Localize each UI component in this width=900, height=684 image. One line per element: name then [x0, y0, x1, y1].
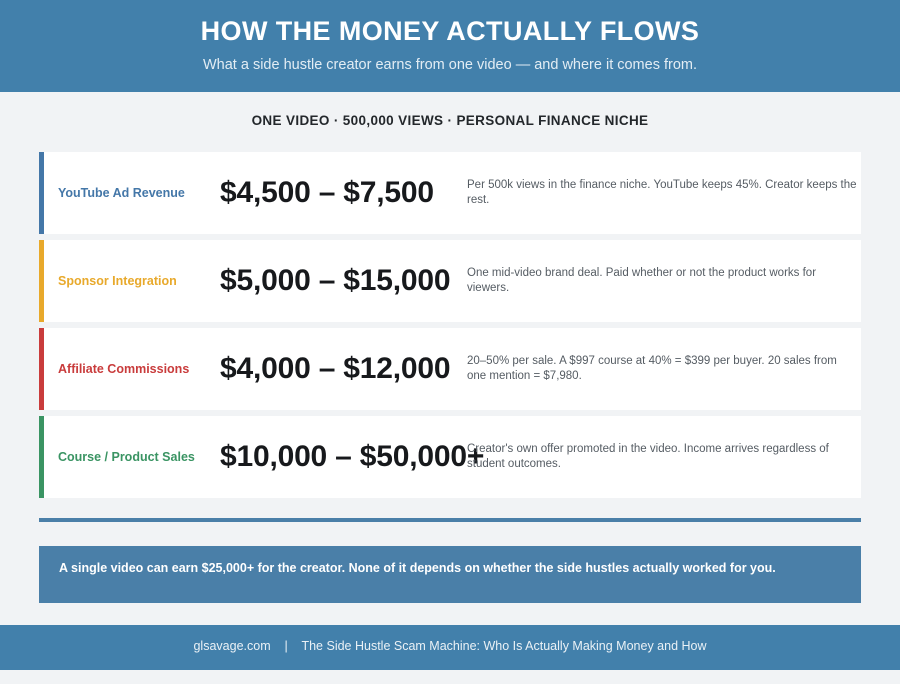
- footer-text: glsavage.com | The Side Hustle Scam Mach…: [0, 625, 900, 654]
- footer-band: glsavage.com | The Side Hustle Scam Mach…: [0, 625, 900, 670]
- row-label: Affiliate Commissions: [44, 362, 220, 377]
- row-amount: $10,000 – $50,000+: [220, 440, 484, 474]
- row-description: 20–50% per sale. A $997 course at 40% = …: [467, 354, 857, 384]
- header-band: HOW THE MONEY ACTUALLY FLOWS What a side…: [0, 0, 900, 92]
- page-subtitle: What a side hustle creator earns from on…: [0, 47, 900, 74]
- row-amount: $4,500 – $7,500: [220, 176, 434, 210]
- infographic-page: HOW THE MONEY ACTUALLY FLOWS What a side…: [0, 0, 900, 684]
- row-label: Course / Product Sales: [44, 450, 220, 465]
- revenue-row: Affiliate Commissions $4,000 – $12,000 2…: [39, 328, 861, 410]
- summary-callout: A single video can earn $25,000+ for the…: [39, 546, 861, 603]
- row-accent-bar: [39, 328, 44, 410]
- footer-site: glsavage.com: [193, 639, 270, 653]
- row-description: Creator's own offer promoted in the vide…: [467, 442, 857, 472]
- row-amount: $5,000 – $15,000: [220, 264, 450, 298]
- revenue-rows: YouTube Ad Revenue $4,500 – $7,500 Per 5…: [39, 152, 861, 504]
- revenue-row: YouTube Ad Revenue $4,500 – $7,500 Per 5…: [39, 152, 861, 234]
- footer-separator: |: [285, 639, 288, 653]
- row-amount: $4,000 – $12,000: [220, 352, 450, 386]
- revenue-row: Sponsor Integration $5,000 – $15,000 One…: [39, 240, 861, 322]
- row-accent-bar: [39, 240, 44, 322]
- row-accent-bar: [39, 152, 44, 234]
- section-divider: [39, 518, 861, 522]
- revenue-row: Course / Product Sales $10,000 – $50,000…: [39, 416, 861, 498]
- row-description: One mid-video brand deal. Paid whether o…: [467, 266, 857, 296]
- callout-text: A single video can earn $25,000+ for the…: [59, 559, 841, 577]
- row-accent-bar: [39, 416, 44, 498]
- row-label: YouTube Ad Revenue: [44, 186, 220, 201]
- row-label: Sponsor Integration: [44, 274, 220, 289]
- kicker-line: ONE VIDEO · 500,000 VIEWS · PERSONAL FIN…: [0, 113, 900, 128]
- page-title: HOW THE MONEY ACTUALLY FLOWS: [0, 0, 900, 47]
- row-description: Per 500k views in the finance niche. You…: [467, 178, 857, 208]
- footer-article-title: The Side Hustle Scam Machine: Who Is Act…: [301, 639, 706, 653]
